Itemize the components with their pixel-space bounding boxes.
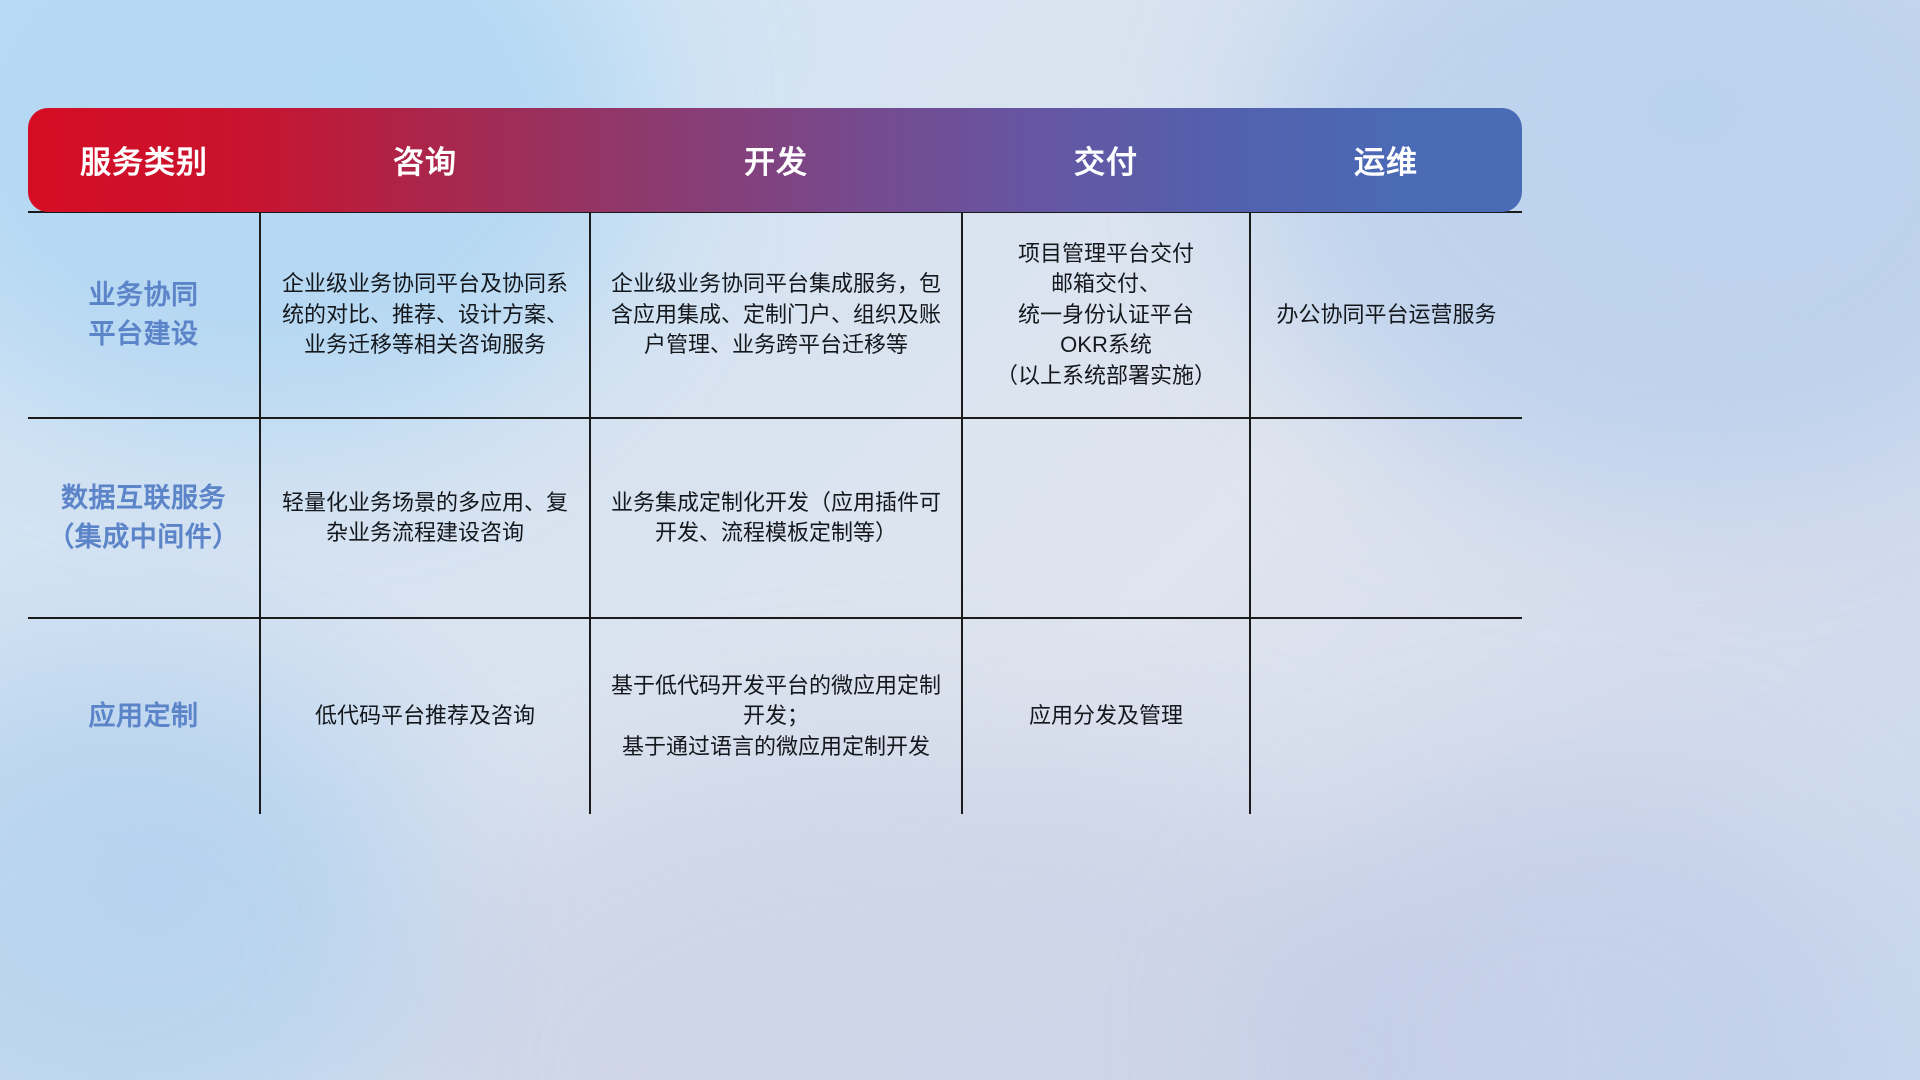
column-header-develop: 开发 [590, 108, 962, 212]
table-row: 应用定制 低代码平台推荐及咨询 基于低代码开发平台的微应用定制开发； 基于通过语… [28, 618, 1522, 814]
cell-deliver-line: 统一身份认证平台 [979, 300, 1233, 330]
cell-operate [1250, 418, 1522, 618]
column-header-operate: 运维 [1250, 108, 1522, 212]
cell-deliver [962, 418, 1250, 618]
column-header-consult: 咨询 [260, 108, 590, 212]
cell-develop: 基于低代码开发平台的微应用定制开发； 基于通过语言的微应用定制开发 [590, 618, 962, 814]
row-category-cell: 应用定制 [28, 618, 260, 814]
background-blob-bottom-right [1260, 780, 1880, 1080]
cell-deliver: 应用分发及管理 [962, 618, 1250, 814]
cell-develop-line: 基于低代码开发平台的微应用定制开发； [607, 671, 945, 732]
column-header-develop-label: 开发 [590, 137, 962, 182]
row-category-cell: 数据互联服务 （集成中间件） [28, 418, 260, 618]
column-header-consult-label: 咨询 [260, 137, 590, 182]
table-header: 服务类别 咨询 开发 交付 运维 [28, 108, 1522, 212]
cell-consult: 轻量化业务场景的多应用、复杂业务流程建设咨询 [260, 418, 590, 618]
column-header-deliver-label: 交付 [962, 137, 1250, 182]
cell-operate: 办公协同平台运营服务 [1250, 212, 1522, 418]
row-category-line: （集成中间件） [44, 518, 243, 557]
row-category-line: 数据互联服务 [44, 479, 243, 518]
row-category-line: 应用定制 [44, 697, 243, 736]
table-row: 数据互联服务 （集成中间件） 轻量化业务场景的多应用、复杂业务流程建设咨询 业务… [28, 418, 1522, 618]
column-header-category-label: 服务类别 [28, 137, 260, 182]
cell-consult: 企业级业务协同平台及协同系统的对比、推荐、设计方案、业务迁移等相关咨询服务 [260, 212, 590, 418]
cell-deliver-line: 邮箱交付、 [979, 269, 1233, 299]
table-body: 业务协同 平台建设 企业级业务协同平台及协同系统的对比、推荐、设计方案、业务迁移… [28, 212, 1522, 814]
cell-deliver-line: 项目管理平台交付 [979, 239, 1233, 269]
cell-develop: 企业级业务协同平台集成服务，包含应用集成、定制门户、组织及账户管理、业务跨平台迁… [590, 212, 962, 418]
service-matrix-table-wrapper: 服务类别 咨询 开发 交付 运维 业务协同 [28, 108, 1522, 814]
cell-deliver: 项目管理平台交付 邮箱交付、 统一身份认证平台 OKR系统 （以上系统部署实施） [962, 212, 1250, 418]
row-category-cell: 业务协同 平台建设 [28, 212, 260, 418]
cell-consult: 低代码平台推荐及咨询 [260, 618, 590, 814]
cell-operate [1250, 618, 1522, 814]
cell-develop: 业务集成定制化开发（应用插件可开发、流程模板定制等） [590, 418, 962, 618]
table-row: 业务协同 平台建设 企业级业务协同平台及协同系统的对比、推荐、设计方案、业务迁移… [28, 212, 1522, 418]
cell-deliver-line: （以上系统部署实施） [979, 361, 1233, 391]
row-category-line: 业务协同 [44, 276, 243, 315]
cell-develop-line: 基于通过语言的微应用定制开发 [607, 732, 945, 762]
column-header-deliver: 交付 [962, 108, 1250, 212]
column-header-operate-label: 运维 [1250, 137, 1522, 182]
service-matrix-table: 服务类别 咨询 开发 交付 运维 业务协同 [28, 108, 1522, 814]
column-header-category: 服务类别 [28, 108, 260, 212]
row-category-line: 平台建设 [44, 315, 243, 354]
table-header-row: 服务类别 咨询 开发 交付 运维 [28, 108, 1522, 212]
cell-deliver-line: OKR系统 [979, 330, 1233, 360]
